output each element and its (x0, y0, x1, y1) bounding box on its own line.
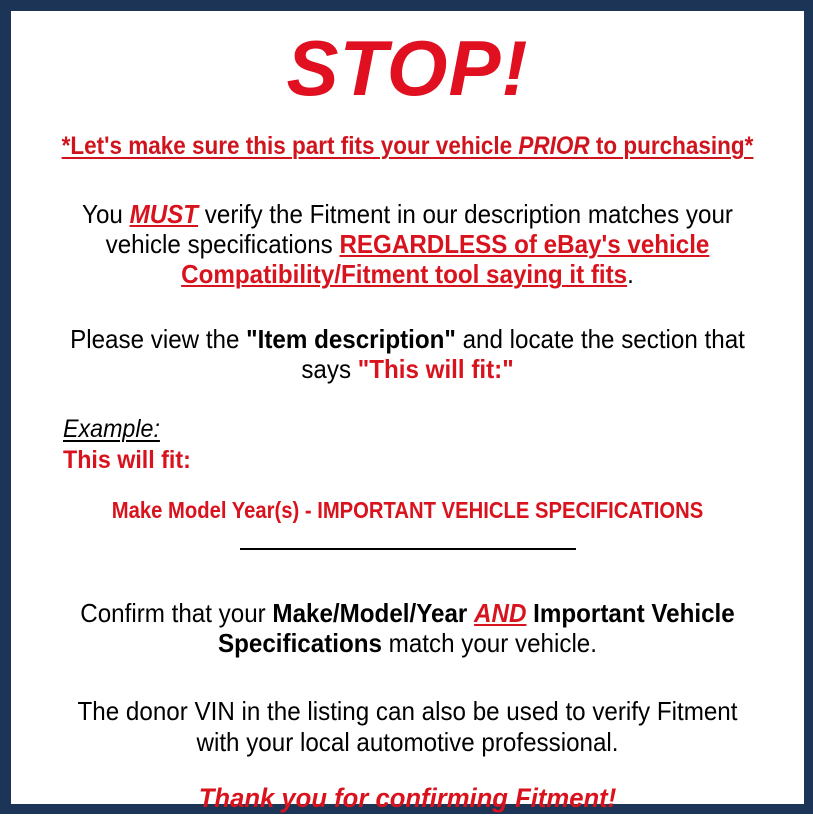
subtitle-tail: to purchasing* (590, 132, 754, 160)
example-block: Example: This will fit: (15, 415, 800, 475)
divider-wrapper (15, 548, 800, 562)
this-will-fit-emphasis: "This will fit:" (358, 354, 514, 384)
item-description-emphasis: "Item description" (246, 324, 456, 354)
paragraph-donor-vin: The donor VIN in the listing can also be… (42, 696, 772, 757)
fitment-notice-frame: STOP! *Let's make sure this part fits yo… (0, 0, 813, 814)
subtitle-lead: *Let's make sure this part fits your veh… (62, 132, 519, 160)
example-label-row: Example: (63, 415, 800, 444)
notice-content: STOP! *Let's make sure this part fits yo… (11, 29, 804, 822)
must-emphasis: MUST (130, 199, 199, 229)
paragraph-please-view: Please view the "Item description" and l… (42, 324, 772, 385)
must-seg-3: . (627, 259, 634, 289)
please-seg-1: Please view the (70, 324, 246, 354)
thank-you-line: Thank you for confirming Fitment! (35, 783, 781, 814)
subtitle-line: *Let's make sure this part fits your veh… (54, 133, 761, 161)
example-this-will-fit: This will fit: (63, 446, 748, 475)
example-spec-line: Make Model Year(s) - IMPORTANT VEHICLE S… (62, 497, 753, 524)
paragraph-confirm: Confirm that your Make/Model/Year AND Im… (42, 598, 772, 659)
confirm-seg-4: match your vehicle. (382, 628, 597, 658)
subtitle-prior-emphasis: PRIOR (518, 132, 589, 160)
must-seg-1: You (82, 199, 130, 229)
stop-headline: STOP! (15, 29, 800, 107)
and-emphasis: AND (474, 598, 526, 628)
paragraph-must-verify: You MUST verify the Fitment in our descr… (42, 199, 772, 290)
confirm-seg-1: Confirm that your (80, 598, 272, 628)
make-model-year-emphasis: Make/Model/Year (272, 598, 467, 628)
example-label: Example: (63, 415, 160, 444)
horizontal-divider (240, 548, 576, 550)
confirm-seg-3 (526, 598, 533, 628)
